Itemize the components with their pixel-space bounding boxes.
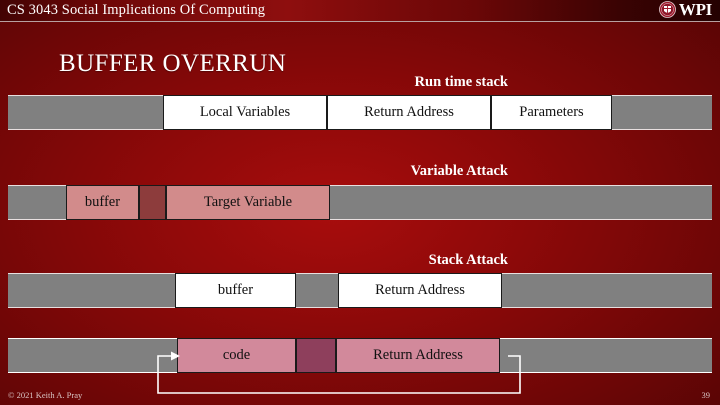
memory-block-3-1: [296, 338, 336, 373]
wpi-wordmark: WPI: [679, 1, 712, 18]
memory-block-2-0: buffer: [175, 273, 296, 308]
memory-block-0-0: Local Variables: [163, 95, 327, 130]
memory-row-0: Local VariablesReturn AddressParameters: [8, 95, 712, 130]
footer-copyright: © 2021 Keith A. Pray: [8, 390, 82, 400]
section-heading-1: Variable Attack: [411, 163, 508, 180]
slide-header-bar: CS 3043 Social Implications Of Computing…: [0, 0, 720, 22]
slide-canvas: CS 3043 Social Implications Of Computing…: [0, 0, 720, 405]
page-title: BUFFER OVERRUN: [59, 50, 286, 78]
section-heading-2: Stack Attack: [429, 252, 508, 269]
course-title: CS 3043 Social Implications Of Computing: [7, 2, 265, 19]
memory-block-1-1: [139, 185, 166, 220]
memory-row-2: bufferReturn Address: [8, 273, 712, 308]
footer-page-number: 39: [702, 390, 711, 400]
memory-block-0-1: Return Address: [327, 95, 491, 130]
memory-row-1: bufferTarget Variable: [8, 185, 712, 220]
memory-block-0-2: Parameters: [491, 95, 612, 130]
memory-block-2-1: Return Address: [338, 273, 502, 308]
memory-block-3-2: Return Address: [336, 338, 500, 373]
section-heading-0: Run time stack: [415, 74, 508, 91]
memory-block-1-2: Target Variable: [166, 185, 330, 220]
memory-row-3: codeReturn Address: [8, 338, 712, 373]
memory-block-1-0: buffer: [66, 185, 139, 220]
wpi-seal-icon: [659, 1, 676, 18]
wpi-logo: WPI: [659, 1, 712, 18]
memory-block-3-0: code: [177, 338, 296, 373]
